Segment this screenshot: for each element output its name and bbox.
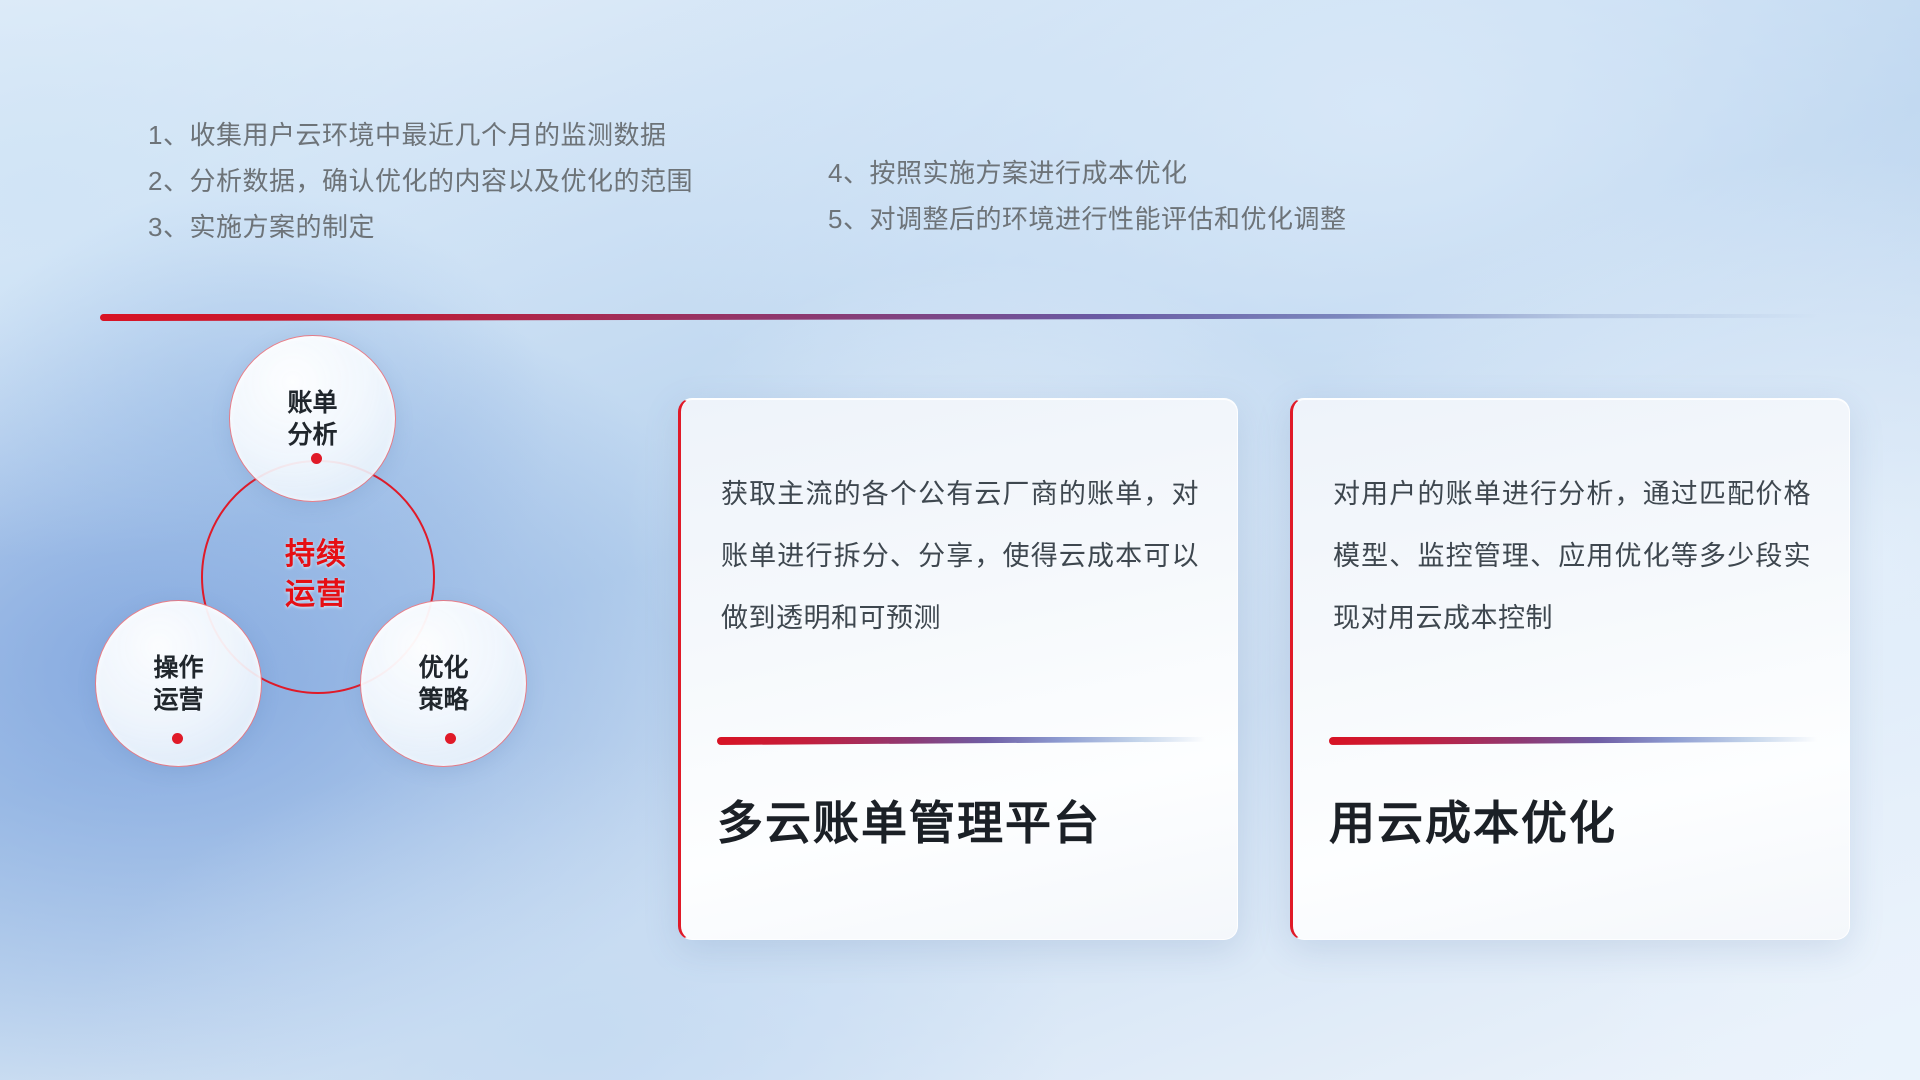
slide-canvas: 1、收集用户云环境中最近几个月的监测数据 2、分析数据，确认优化的内容以及优化的… [0,0,1920,1080]
venn-bubble-label-line1: 操作 [153,652,203,684]
venn-center-label: 持续 运营 [241,510,391,640]
venn-node-dot-right [445,733,456,744]
card-body-text: 获取主流的各个公有云厂商的账单，对账单进行拆分、分享，使得云成本可以做到透明和可… [721,463,1199,649]
venn-node-dot-top [311,453,322,464]
step-item-1: 1、收集用户云环境中最近几个月的监测数据 [148,112,848,158]
card-body-text: 对用户的账单进行分析，通过匹配价格模型、监控管理、应用优化等多少段实现对用云成本… [1333,463,1811,649]
steps-right-column: 4、按照实施方案进行成本优化 5、对调整后的环境进行性能评估和优化调整 [828,150,1468,242]
venn-bubble-label-line2: 策略 [418,684,468,716]
venn-bubble-label-line2: 运营 [153,684,203,716]
venn-center-label-line1: 持续 [285,535,347,575]
step-item-4: 4、按照实施方案进行成本优化 [828,150,1468,196]
step-item-2: 2、分析数据，确认优化的内容以及优化的范围 [148,158,848,204]
feature-card-cloud-cost-optimization[interactable]: 对用户的账单进行分析，通过匹配价格模型、监控管理、应用优化等多少段实现对用云成本… [1290,398,1850,940]
card-divider [1329,737,1817,745]
step-item-3: 3、实施方案的制定 [148,204,848,250]
venn-diagram: 账单 分析 操作 运营 优化 策略 持续 运营 [95,360,565,780]
card-divider [717,737,1205,745]
venn-center-label-line2: 运营 [285,575,347,615]
steps-left-column: 1、收集用户云环境中最近几个月的监测数据 2、分析数据，确认优化的内容以及优化的… [148,112,848,250]
step-item-5: 5、对调整后的环境进行性能评估和优化调整 [828,196,1468,242]
feature-card-multi-cloud-billing-platform[interactable]: 获取主流的各个公有云厂商的账单，对账单进行拆分、分享，使得云成本可以做到透明和可… [678,398,1238,940]
venn-bubble-label-line1: 优化 [418,652,468,684]
card-title: 多云账单管理平台 [717,787,1101,853]
venn-node-dot-left [172,733,183,744]
venn-bubble-label-line2: 分析 [287,419,337,451]
card-title: 用云成本优化 [1329,787,1617,853]
venn-bubble-label-line1: 账单 [287,387,337,419]
venn-bubble-bill-analysis[interactable]: 账单 分析 [229,335,396,502]
